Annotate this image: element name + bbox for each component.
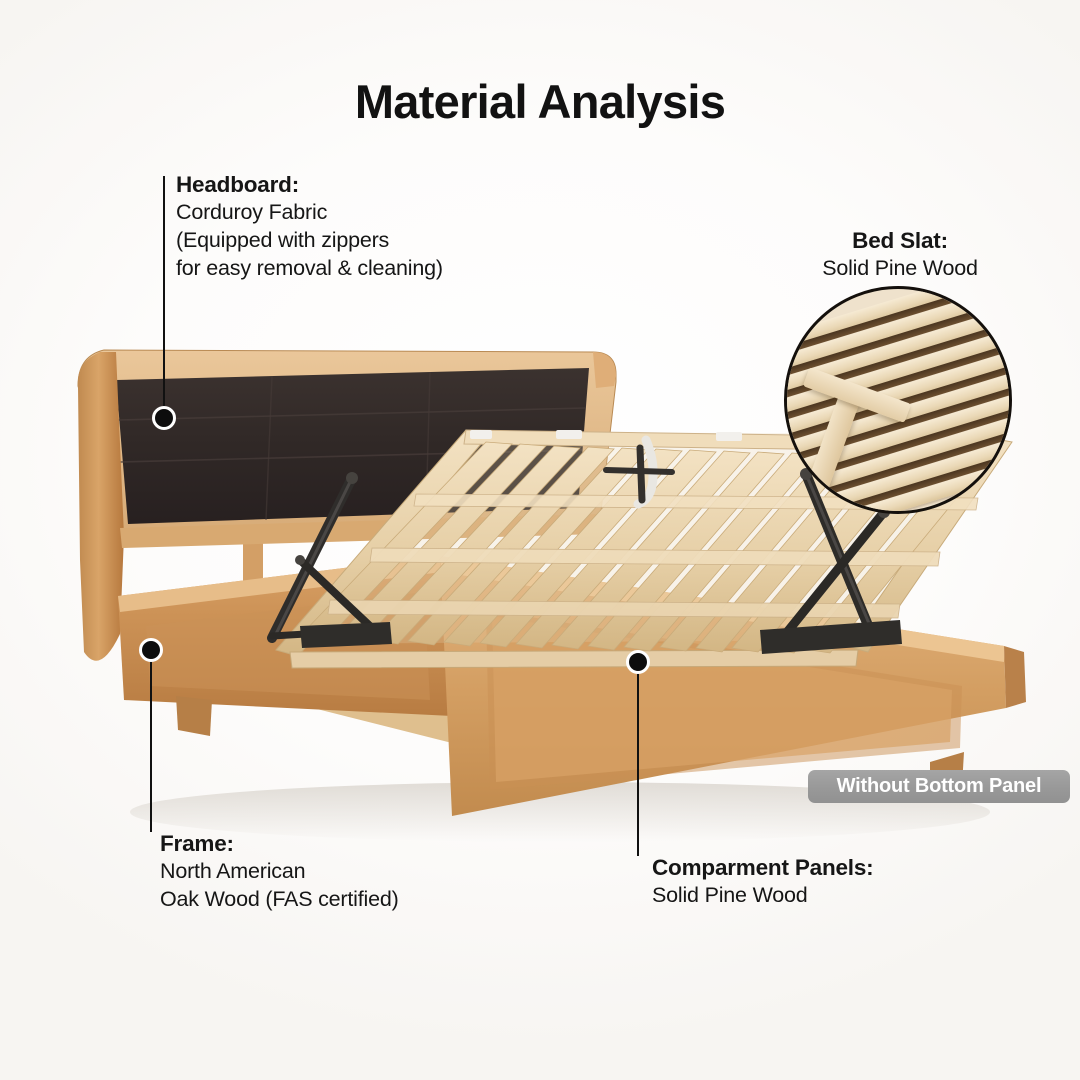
annotation-line: for easy removal & cleaning) — [176, 255, 443, 283]
annotation-compartment-panels: Comparment Panels: Solid Pine Wood — [652, 853, 873, 910]
compartment-leader-line — [637, 672, 639, 856]
annotation-bed-slat: Bed Slat: Solid Pine Wood — [760, 226, 1040, 283]
product-illustration — [0, 0, 1080, 1080]
headboard-leader-line — [163, 176, 165, 420]
annotation-line: Solid Pine Wood — [760, 255, 1040, 283]
status-badge: Without Bottom Panel — [808, 770, 1070, 803]
magnifier-contents — [787, 289, 1009, 511]
compartment-marker-dot — [626, 650, 650, 674]
bed-slat-magnifier — [784, 286, 1012, 514]
annotation-line: Solid Pine Wood — [652, 882, 873, 910]
annotation-heading: Frame: — [160, 829, 399, 858]
annotation-heading: Bed Slat: — [760, 226, 1040, 255]
annotation-line: North American — [160, 858, 399, 886]
annotation-heading: Comparment Panels: — [652, 853, 873, 882]
headboard-marker-dot — [152, 406, 176, 430]
annotation-line: (Equipped with zippers — [176, 227, 443, 255]
annotation-heading: Headboard: — [176, 170, 443, 199]
annotation-line: Oak Wood (FAS certified) — [160, 886, 399, 914]
annotation-line: Corduroy Fabric — [176, 199, 443, 227]
annotation-frame: Frame: North American Oak Wood (FAS cert… — [160, 829, 399, 914]
frame-leader-line — [150, 660, 152, 832]
infographic-canvas: Material Analysis — [0, 0, 1080, 1080]
frame-marker-dot — [139, 638, 163, 662]
annotation-headboard: Headboard: Corduroy Fabric (Equipped wit… — [176, 170, 443, 283]
